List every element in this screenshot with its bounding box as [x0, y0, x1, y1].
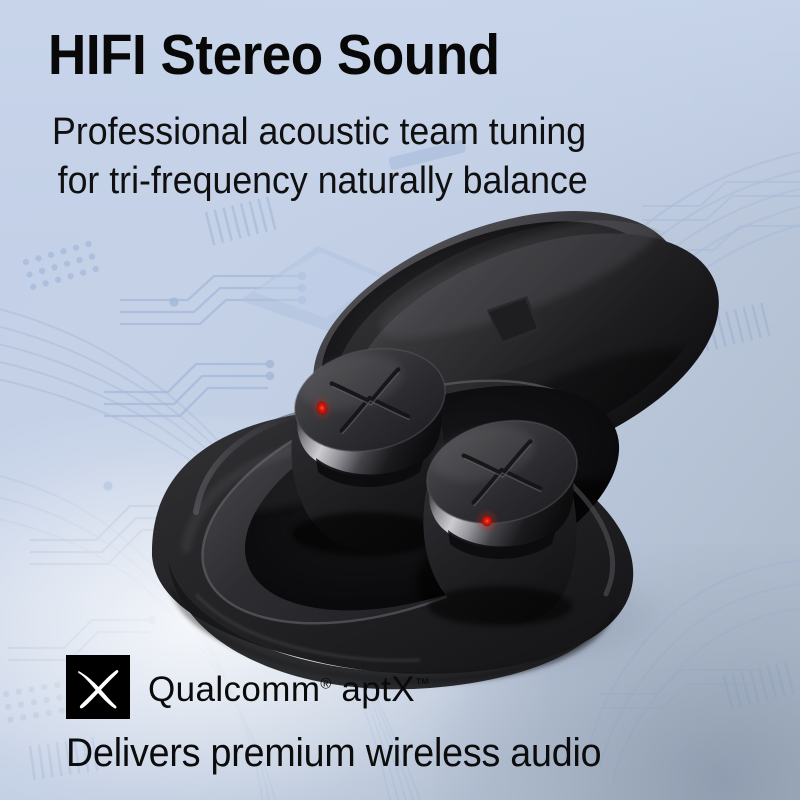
- bottom-tagline: Delivers premium wireless audio: [66, 731, 601, 776]
- registered-symbol: ®: [320, 676, 331, 692]
- qualcomm-aptx-badge: Qualcomm® aptX™: [66, 655, 430, 719]
- trademark-symbol: ™: [415, 676, 430, 692]
- subtitle-line-1: Professional acoustic team tuning: [52, 111, 586, 153]
- qualcomm-x-mark-icon: [66, 655, 130, 719]
- qualcomm-aptx-wordmark: Qualcomm® aptX™: [148, 670, 430, 710]
- page-title: HIFI Stereo Sound: [48, 26, 500, 86]
- qualcomm-brand-text: Qualcomm: [148, 670, 320, 709]
- aptx-product-text: aptX: [331, 670, 415, 709]
- subtitle: Professional acoustic team tuning for tr…: [52, 108, 710, 205]
- product-marketing-poster: L R: [0, 0, 800, 800]
- subtitle-line-2: for tri-frequency naturally balance: [52, 157, 710, 206]
